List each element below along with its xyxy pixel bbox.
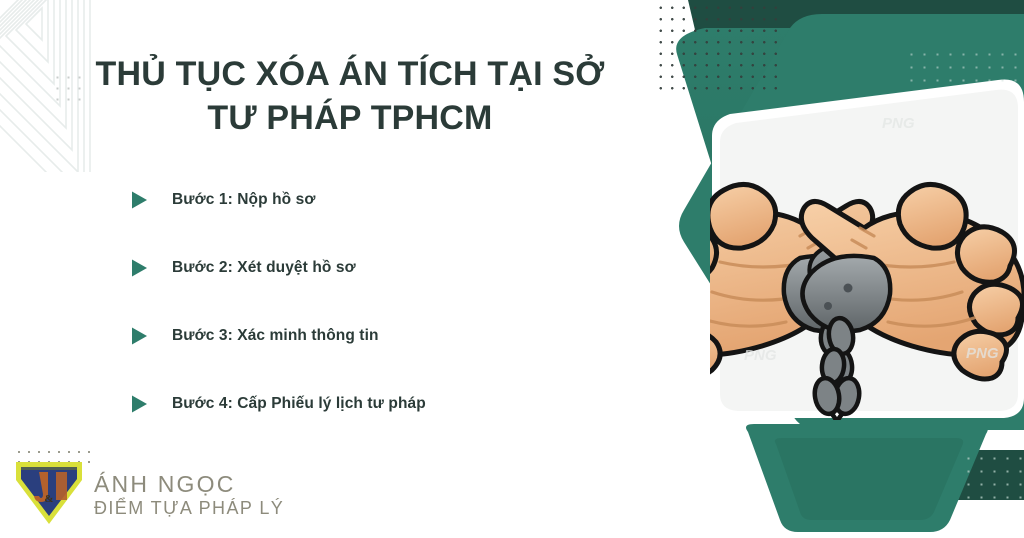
page-title-line-2: TƯ PHÁP TPHCM: [0, 96, 700, 140]
page-title: THỦ TỤC XÓA ÁN TÍCH TẠI SỞ TƯ PHÁP TPHCM: [0, 52, 700, 140]
svg-text:PNG: PNG: [882, 115, 915, 132]
play-triangle-icon: [128, 393, 150, 415]
svg-text:&: &: [44, 493, 53, 505]
step-label-3: Bước 3: Xác minh thông tin: [172, 327, 379, 345]
steps-list: Bước 1: Nộp hồ sơ Bước 2: Xét duyệt hồ s…: [128, 166, 648, 438]
step-label-2: Bước 2: Xét duyệt hồ sơ: [172, 259, 356, 277]
step-label-4: Bước 4: Cấp Phiếu lý lịch tư pháp: [172, 395, 426, 413]
step-item-3[interactable]: Bước 3: Xác minh thông tin: [128, 302, 648, 370]
play-triangle-icon: [128, 189, 150, 211]
play-triangle-icon: [128, 325, 150, 347]
svg-text:PNG: PNG: [744, 347, 777, 364]
page-title-line-1: THỦ TỤC XÓA ÁN TÍCH TẠI SỞ: [96, 55, 605, 93]
step-item-4[interactable]: Bước 4: Cấp Phiếu lý lịch tư pháp: [128, 370, 648, 438]
play-triangle-icon: [128, 257, 150, 279]
illustration-handcuffed-hands: PNG PNG PNG: [650, 0, 1024, 538]
brand-tagline: ĐIỂM TỰA PHÁP LÝ: [94, 498, 284, 519]
brand-logo-text: ÁNH NGỌC ĐIỂM TỰA PHÁP LÝ: [94, 466, 284, 519]
brand-name: ÁNH NGỌC: [94, 472, 284, 496]
shield-diamond-jn-icon: &: [8, 452, 90, 532]
step-label-1: Bước 1: Nộp hồ sơ: [172, 191, 315, 209]
step-item-2[interactable]: Bước 2: Xét duyệt hồ sơ: [128, 234, 648, 302]
poster-canvas: PNG PNG PNG THỦ TỤC XÓA ÁN TÍCH TẠI SỞ T…: [0, 0, 1024, 538]
svg-text:PNG: PNG: [966, 345, 999, 362]
brand-logo[interactable]: & ÁNH NGỌC ĐIỂM TỰA PHÁP LÝ: [8, 452, 284, 532]
step-item-1[interactable]: Bước 1: Nộp hồ sơ: [128, 166, 648, 234]
